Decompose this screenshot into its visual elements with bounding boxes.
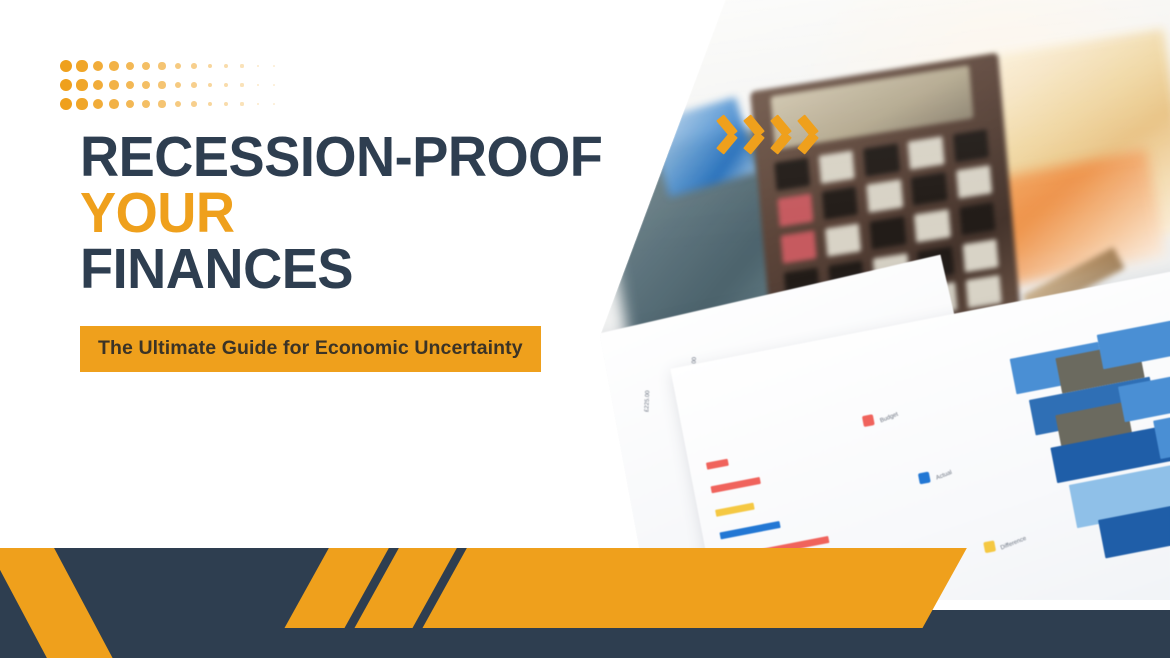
- legend-swatch-budget: [861, 414, 874, 427]
- hero-photo: £250.00 £225.00 £200.00 Budget: [600, 0, 1170, 600]
- dot-grid-cell: [58, 98, 74, 110]
- subtitle-text: The Ultimate Guide for Economic Uncertai…: [98, 337, 523, 359]
- bottom-orange-stripe-group: [288, 548, 708, 610]
- bottom-decoration-band: [0, 548, 1170, 658]
- dot-grid-cell: [250, 103, 266, 105]
- dot-grid-cell: [202, 83, 218, 88]
- dot-grid-cell: [122, 100, 138, 109]
- chevron-left-icon: [714, 112, 738, 158]
- dot-grid-cell: [58, 79, 74, 91]
- bottom-stripe-3: [423, 548, 974, 628]
- page-title: RECESSION-PROOF YOUR FINANCES: [80, 130, 602, 298]
- dot-grid-cell: [122, 81, 138, 90]
- dot-grid-cell: [186, 82, 202, 88]
- chevron-left-icon-group: [714, 112, 819, 158]
- dot-grid-cell: [266, 65, 282, 67]
- dot-grid-cell: [202, 64, 218, 69]
- dot-grid-cell: [138, 62, 154, 70]
- dot-grid-row: [58, 79, 282, 91]
- dot-grid-cell: [90, 61, 106, 71]
- dot-grid-row: [58, 60, 282, 72]
- dot-grid-cell: [218, 102, 234, 106]
- dot-grid-cell: [250, 65, 266, 67]
- dot-grid-cell: [154, 100, 170, 107]
- dot-grid-cell: [218, 83, 234, 87]
- dot-grid-cell: [234, 83, 250, 86]
- dot-grid-cell: [170, 63, 186, 69]
- chevron-left-icon: [741, 112, 765, 158]
- legend-label-budget: Budget: [878, 412, 898, 425]
- dot-grid-cell: [250, 84, 266, 86]
- dot-grid-cell: [186, 101, 202, 107]
- title-line-2-accent: YOUR: [80, 186, 602, 242]
- hero-photo-image: £250.00 £225.00 £200.00 Budget: [600, 0, 1170, 600]
- dot-grid-cell: [122, 62, 138, 71]
- dot-grid-cell: [74, 98, 90, 109]
- dot-grid-cell: [106, 80, 122, 90]
- chevron-left-icon: [795, 112, 819, 158]
- dot-grid-cell: [266, 84, 282, 86]
- dot-grid-cell: [202, 102, 218, 107]
- dot-grid-cell: [154, 62, 170, 69]
- dot-grid-cell: [138, 81, 154, 89]
- dot-grid-cell: [90, 80, 106, 90]
- dot-grid-cell: [266, 103, 282, 105]
- halftone-dot-grid-icon: [58, 60, 282, 110]
- dot-grid-cell: [106, 61, 122, 71]
- headline-block: RECESSION-PROOF YOUR FINANCES The Ultima…: [80, 130, 630, 372]
- legend-label-actual: Actual: [935, 470, 953, 482]
- title-line-1: RECESSION-PROOF: [80, 130, 602, 186]
- dot-grid-cell: [186, 63, 202, 69]
- dot-grid-row: [58, 98, 282, 110]
- dot-grid-cell: [74, 79, 90, 90]
- dot-grid-cell: [170, 101, 186, 107]
- chevron-left-icon: [768, 112, 792, 158]
- dot-grid-cell: [218, 64, 234, 68]
- legend-swatch-actual: [918, 472, 931, 485]
- title-line-3: FINANCES: [80, 242, 602, 298]
- banner-root: £250.00 £225.00 £200.00 Budget: [0, 0, 1170, 658]
- dot-grid-cell: [154, 81, 170, 88]
- dot-grid-cell: [234, 102, 250, 105]
- subtitle-banner: The Ultimate Guide for Economic Uncertai…: [80, 326, 541, 372]
- dot-grid-cell: [74, 60, 90, 71]
- dot-grid-cell: [58, 60, 74, 72]
- dot-grid-cell: [138, 100, 154, 108]
- dot-grid-cell: [170, 82, 186, 88]
- dot-grid-cell: [234, 64, 250, 67]
- dot-grid-cell: [90, 99, 106, 109]
- dot-grid-cell: [106, 99, 122, 109]
